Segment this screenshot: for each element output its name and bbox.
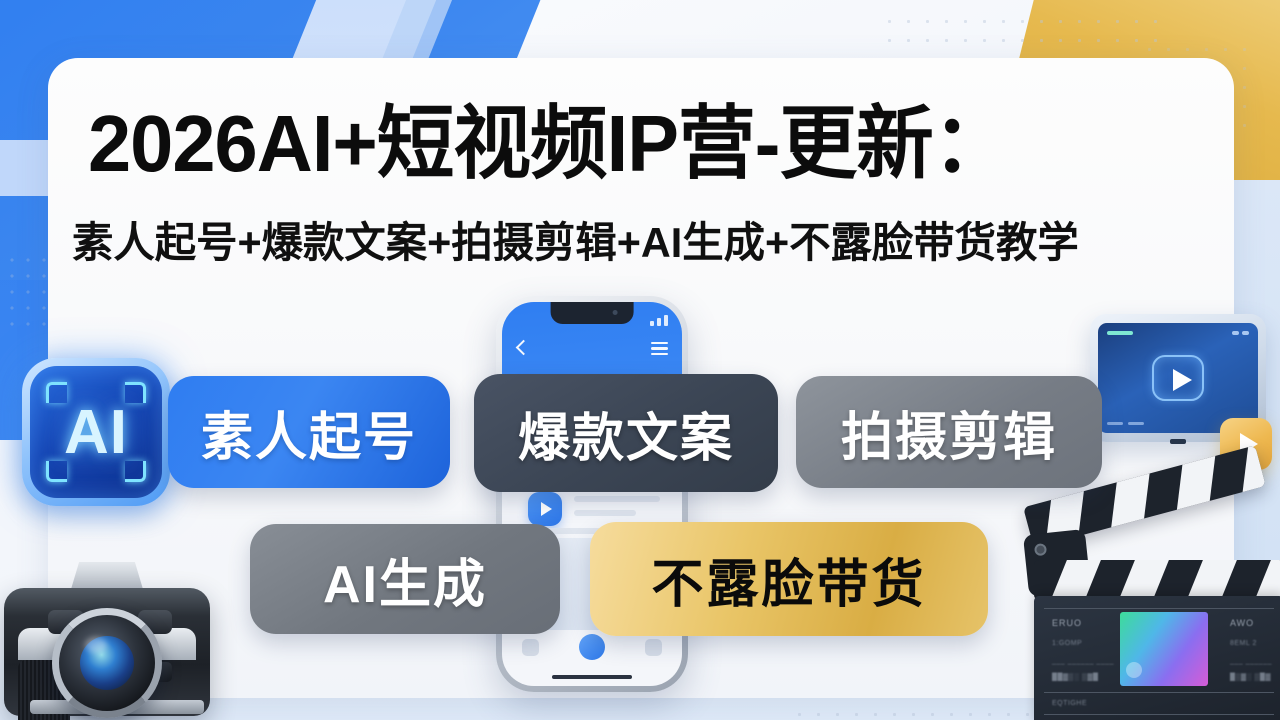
tag-pill-ai-sheng-cheng[interactable]: AI生成: [250, 524, 560, 634]
ai-badge: AI: [22, 358, 170, 506]
placeholder-line: [574, 510, 636, 516]
clapper-stripe-bar: [1034, 560, 1280, 600]
nav-record-button-icon[interactable]: [579, 634, 605, 660]
nav-item-icon[interactable]: [522, 639, 539, 656]
play-button-icon[interactable]: [1152, 355, 1204, 401]
tag-pill-bu-lu-lian-dai-huo[interactable]: 不露脸带货: [590, 522, 988, 636]
placeholder-line: [574, 496, 660, 502]
scan-corner-icon: [46, 382, 67, 403]
promo-banner: 2026AI+短视频IP营-更新： 素人起号+爆款文案+拍摄剪辑+AI生成+不露…: [0, 0, 1280, 720]
tag-pill-bao-kuan-wen-an[interactable]: 爆款文案: [474, 374, 778, 492]
play-button-icon[interactable]: [528, 492, 562, 526]
signal-status-icon: [650, 315, 668, 326]
scan-corner-icon: [125, 461, 146, 482]
hamburger-menu-icon[interactable]: [651, 342, 668, 355]
ai-badge-label: AI: [64, 397, 128, 468]
clapper-slate-board: ERUO AWO 1:GOMP 8EML 2 ___ ______ ____ _…: [1034, 596, 1280, 720]
tag-pill-su-ren-qi-hao[interactable]: 素人起号: [168, 376, 450, 488]
scan-corner-icon: [46, 461, 67, 482]
tablet-status-icon: [1232, 331, 1249, 335]
page-title: 2026AI+短视频IP营-更新：: [88, 104, 1165, 184]
home-indicator: [552, 675, 632, 679]
nav-item-icon[interactable]: [645, 639, 662, 656]
scan-corner-icon: [125, 382, 146, 403]
progress-indicator: [1107, 331, 1133, 335]
phone-notch-icon: [551, 302, 634, 324]
film-clapperboard-illustration: ERUO AWO 1:GOMP 8EML 2 ___ ______ ____ _…: [1016, 496, 1280, 720]
dslr-camera-illustration: [0, 552, 220, 720]
clapper-color-swatch: [1120, 612, 1208, 686]
tablet-stand: [1170, 439, 1186, 444]
ai-scan-frame-icon: AI: [30, 366, 162, 498]
tag-pill-pai-she-jian-ji[interactable]: 拍摄剪辑: [796, 376, 1102, 488]
camera-lens: [52, 608, 162, 718]
page-subtitle: 素人起号+爆款文案+拍摄剪辑+AI生成+不露脸带货教学: [72, 222, 1205, 264]
tablet-screen: [1098, 323, 1258, 433]
player-controls[interactable]: [1107, 422, 1144, 426]
